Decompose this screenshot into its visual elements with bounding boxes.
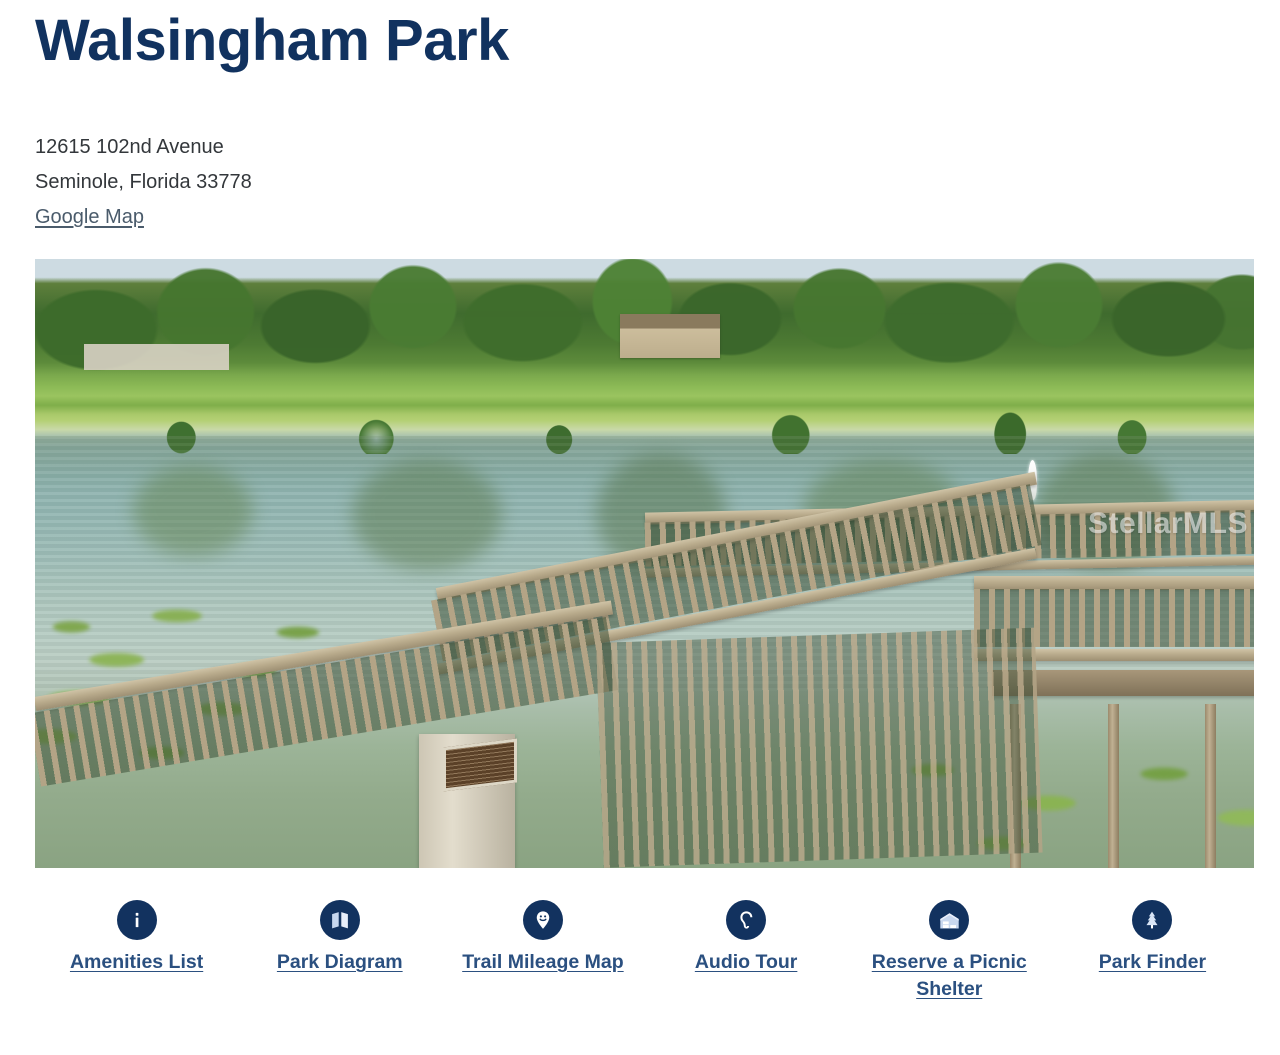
- quicklink-label: Amenities List: [70, 949, 203, 976]
- pine-tree-icon: [1132, 900, 1172, 940]
- quicklink-label: Audio Tour: [695, 949, 798, 976]
- folded-map-icon: [320, 900, 360, 940]
- quicklink-reserve-picnic-shelter[interactable]: Reserve a Picnic Shelter: [848, 900, 1051, 1003]
- quicklink-label: Park Finder: [1099, 949, 1206, 976]
- reflection-blob: [803, 460, 963, 560]
- quicklink-park-diagram[interactable]: Park Diagram: [238, 900, 441, 976]
- google-map-link[interactable]: Google Map: [35, 203, 144, 231]
- shelter-icon: [929, 900, 969, 940]
- quicklink-trail-mileage-map[interactable]: Trail Mileage Map: [441, 900, 644, 976]
- page-title: Walsingham Park: [35, 12, 509, 70]
- address-street: 12615 102nd Avenue: [35, 130, 252, 165]
- quicklink-label: Reserve a Picnic Shelter: [859, 949, 1039, 1003]
- quick-links-row: Amenities List Park Diagram: [35, 900, 1254, 1003]
- info-icon: [117, 900, 157, 940]
- reflection-blob: [1035, 454, 1175, 569]
- quicklink-amenities-list[interactable]: Amenities List: [35, 900, 238, 976]
- reflection-blob: [352, 460, 502, 570]
- lily-pad-mat: [840, 697, 1254, 868]
- reflection-blob: [596, 454, 726, 574]
- address-block: 12615 102nd Avenue Seminole, Florida 337…: [35, 130, 252, 235]
- map-pin-icon: [523, 900, 563, 940]
- quicklink-park-finder[interactable]: Park Finder: [1051, 900, 1254, 976]
- quicklink-audio-tour[interactable]: Audio Tour: [645, 900, 848, 976]
- address-city-state-zip: Seminole, Florida 33778: [35, 165, 252, 200]
- quicklink-label: Trail Mileage Map: [462, 949, 623, 976]
- photo-scene: [35, 259, 1254, 868]
- reflection-blob: [133, 466, 253, 556]
- background-wall: [84, 344, 229, 370]
- background-pavilion: [620, 314, 720, 358]
- quicklink-label: Park Diagram: [277, 949, 403, 976]
- lily-pad-mat: [35, 594, 766, 868]
- park-photo: StellarMLS: [35, 259, 1254, 868]
- ear-audio-icon: [726, 900, 766, 940]
- park-page: Walsingham Park 12615 102nd Avenue Semin…: [0, 0, 1280, 1055]
